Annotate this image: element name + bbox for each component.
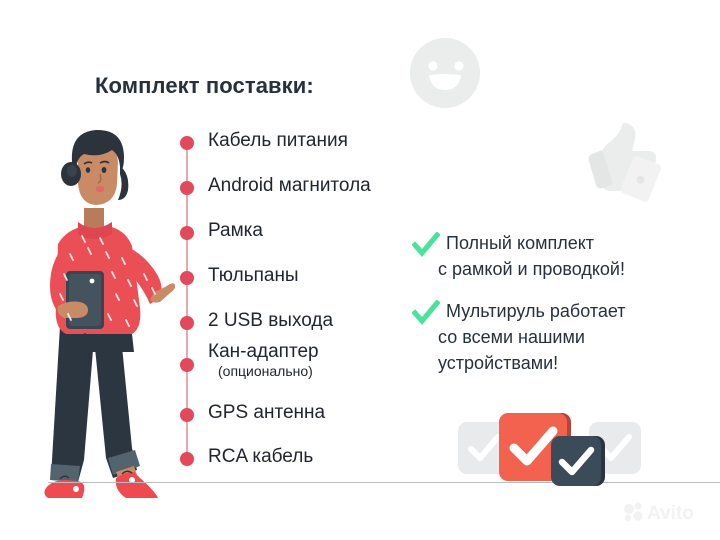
feature-line-3: устройствами! — [438, 350, 558, 376]
bullet-dot-icon — [180, 181, 194, 195]
list-item-label: 2 USB выхода — [208, 310, 333, 332]
bullet-dot-icon — [180, 358, 194, 372]
list-item-sublabel: (опционально) — [218, 363, 313, 379]
checkbox-cards-graphic — [458, 408, 643, 488]
feature-line-1: Полный комплект — [446, 230, 594, 256]
svg-text:Avito: Avito — [647, 503, 694, 524]
list-item-label: Android магнитола — [208, 175, 371, 197]
list-item-label: Рамка — [208, 220, 263, 242]
green-check-icon — [412, 232, 440, 260]
list-item-label: Кан-адаптер — [208, 341, 319, 363]
bullet-dot-icon — [180, 452, 194, 466]
thumbs-up-icon — [580, 118, 664, 202]
bullet-dot-icon — [180, 316, 194, 330]
avito-watermark: Avito — [621, 500, 707, 524]
feature-line-2: со всеми нашими — [438, 324, 585, 350]
feature-line-1: Мультируль работает — [446, 298, 626, 324]
green-check-icon — [412, 300, 440, 328]
bullet-dot-icon — [180, 408, 194, 422]
list-item-label: RCA кабель — [208, 446, 313, 468]
smiley-face-icon — [409, 37, 481, 109]
bullet-dot-icon — [180, 226, 194, 240]
feature-line-2: с рамкой и проводкой! — [438, 256, 625, 282]
page-title: Комплект поставки: — [95, 73, 314, 99]
list-item-label: GPS антенна — [208, 402, 325, 424]
list-item-label: Тюльпаны — [208, 265, 299, 287]
woman-with-tablet-illustration — [8, 108, 178, 500]
list-item-label: Кабель питания — [208, 130, 348, 152]
promo-banner: Комплект поставки: Кабель питания Androi… — [0, 0, 720, 540]
bullet-dot-icon — [180, 136, 194, 150]
checkbox-card-dark — [551, 436, 601, 486]
bullet-dot-icon — [180, 271, 194, 285]
